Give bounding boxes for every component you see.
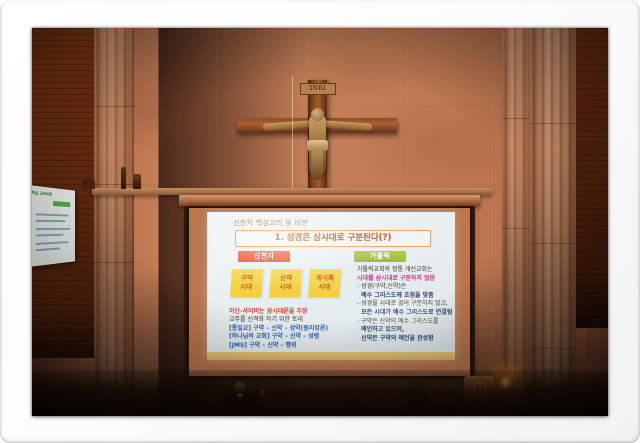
era-card-line1: 신약 [280,274,293,282]
slide-heading-box: 1. 성경은 삼시대로 구분된다(?) [235,230,431,247]
slide-heading: 1. 성경은 삼시대로 구분된다(?) [236,231,430,246]
bullet-icon: - [357,300,361,307]
ledge-object-candle [121,167,126,189]
column-right-inner [502,28,532,416]
slide-right-line: 시대를 삼시대로 구분하지 않음 [357,275,453,284]
slide-right-line: 가톨릭교회와 정통 개신교회는 [357,266,453,275]
corpus-head [311,108,324,121]
column-left [94,28,134,416]
slide-footer-bar [207,352,455,360]
foreground-shadow [32,370,608,416]
era-card-line1: 구약 [241,274,254,282]
slide-left-column: 이단-사이비는 삼시대론을 주장교주를 신격화 하기 위한 토대[통일교] 구약… [229,308,351,350]
slide-title: 신천지 핵심교리 및 비판 [233,218,308,228]
screen-valance [179,195,480,206]
badge-catholic: 가톨릭 [354,251,406,262]
hanging-cord [292,76,293,196]
inri-plaque: INRI [300,83,336,95]
slide-right-line: 신약은 구약의 예언을 완성함 [357,335,453,344]
secondary-display-badge [53,201,70,207]
secondary-display: 핵심 교리비판 [32,185,75,267]
badge-shincheonji: 신천지 [238,251,290,262]
right-brick-wall [572,28,608,328]
era-card-new-testament: 신약 시대 [269,269,302,297]
corpus-legs [310,150,323,180]
photo-frame: INRI 핵심 교리비판 [0,0,640,443]
slide-right-line: - 성경(구약,신약)은 [357,283,453,292]
slide-right-line: - 구약은 신약의 예수 그리스도를 [357,318,453,327]
slide-left-line: [하나님의 교회] 구약 – 신약 – 성령 [229,333,351,341]
ledge-object-box [82,180,95,189]
bullet-icon: - [357,318,361,325]
era-card-revelation: 계시록 시대 [308,269,341,297]
slide-right-column: 가톨릭교회와 정통 개신교회는시대를 삼시대로 구분하지 않음- 성경(구약,신… [357,266,453,343]
slide-left-line: 교주를 신격화 하기 위한 토대 [229,316,351,324]
bullet-icon: - [357,283,361,290]
photograph: INRI 핵심 교리비판 [32,28,608,416]
secondary-display-title: 핵심 교리비판 [32,191,52,198]
era-card-old-testament: 구약 시대 [230,269,263,297]
column-right-outer [530,28,576,416]
era-card-line2: 시대 [279,283,292,291]
ledge-object-vase [133,174,141,189]
slide-right-line: 예언하고 있으며, [357,326,453,335]
presentation-slide: 신천지 핵심교리 및 비판 1. 성경은 삼시대로 구분된다(?) 신천지 가톨… [207,212,455,360]
wall-ledge [92,188,492,195]
slide-left-line: [통일교] 구약 – 신약 – 성약(원리강론) [229,325,351,333]
slide-left-line: [JMS] 구약 – 신약 – 행위 [229,342,351,350]
era-card-line1: 계시록 [316,274,335,282]
era-card-line2: 시대 [318,283,331,291]
slide-right-line: 모든 시대가 예수 그리스도로 연결됨 [357,309,453,318]
slide-right-line: - 성경을 시대로 끊어 구분하지 않고, [357,300,453,309]
era-card-line2: 시대 [240,283,253,291]
crucifix-icon: INRI [237,80,397,190]
